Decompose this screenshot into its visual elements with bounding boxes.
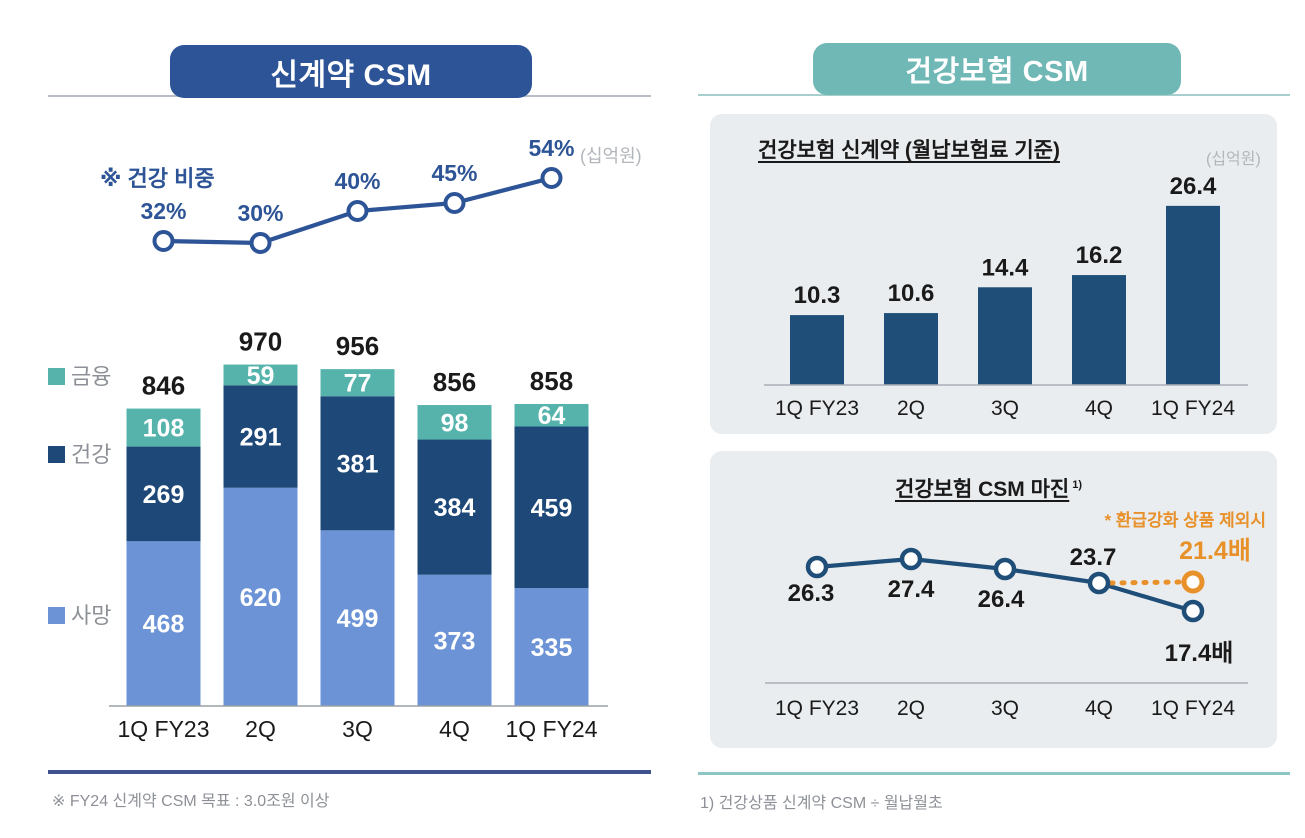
stacked-bar-legend: 금융건강사망 xyxy=(48,364,111,628)
margin-x-tick: 1Q FY23 xyxy=(775,697,859,720)
ratio-line-marker xyxy=(446,194,464,212)
ratio-line-label: 45% xyxy=(431,160,477,186)
left-x-tick: 2Q xyxy=(245,716,276,742)
legend-swatch-death xyxy=(48,607,65,624)
margin-point-label: 17.4배 xyxy=(1165,640,1234,667)
bar-segment-value: 468 xyxy=(143,611,185,639)
health-csm-margin-card: 건강보험 CSM 마진1) * 환급강화 상품 제외시21.4배 26.327.… xyxy=(710,451,1277,748)
bar-segment-value: 373 xyxy=(434,627,476,655)
health-bar-value: 10.6 xyxy=(888,280,935,307)
margin-line-marker xyxy=(1184,602,1202,620)
margin-line-series-group: 26.327.426.423.717.4배 xyxy=(788,544,1234,667)
health-bar xyxy=(1072,275,1126,385)
margin-point-label: 23.7 xyxy=(1070,544,1117,571)
margin-dotted-connector xyxy=(1111,582,1181,583)
right-panel: 건강보험 CSM 건강보험 신계약 (월납보험료 기준) (십억원) 10.31… xyxy=(690,0,1305,838)
left-unit-text: (십억원) xyxy=(580,146,642,166)
margin-x-axis: 1Q FY232Q3Q4Q1Q FY24 xyxy=(765,683,1248,720)
health-bar-x-tick: 3Q xyxy=(991,397,1019,420)
health-bar xyxy=(978,287,1032,385)
health-ratio-caption: ※ 건강 비중 xyxy=(100,166,215,191)
right-footnote: 1) 건강상품 신계약 CSM ÷ 월납월초 xyxy=(700,789,943,813)
margin-x-tick: 1Q FY24 xyxy=(1151,697,1235,720)
health-bar-x-tick: 1Q FY24 xyxy=(1151,397,1235,420)
bar-segment-value: 108 xyxy=(143,415,185,443)
health-bar-value: 10.3 xyxy=(794,282,841,309)
ratio-line-marker xyxy=(543,169,561,187)
bar-segment-value: 291 xyxy=(240,424,282,452)
bar-total-label: 858 xyxy=(530,366,573,396)
health-bar-value: 26.4 xyxy=(1170,173,1217,200)
left-panel: 신계약 CSM (십억원) ※ 건강 비중 32%30%40%45%54% 46… xyxy=(0,0,690,838)
health-bars-group: 10.310.614.416.226.4 xyxy=(790,173,1220,385)
new-contract-csm-chart: (십억원) ※ 건강 비중 32%30%40%45%54% 4682691088… xyxy=(0,0,690,760)
stacked-bars-group: 4682691088466202915997049938177956373384… xyxy=(127,327,589,706)
bar-segment-value: 77 xyxy=(344,370,372,398)
margin-annotation-value: 21.4배 xyxy=(1179,537,1251,565)
left-footnote-divider xyxy=(48,770,651,774)
bar-total-label: 956 xyxy=(336,331,379,361)
bar-segment-value: 620 xyxy=(240,584,282,612)
bar-segment-value: 384 xyxy=(434,494,476,522)
ratio-line-label: 32% xyxy=(140,198,186,224)
bar-segment-value: 64 xyxy=(538,402,566,430)
ratio-line-marker xyxy=(155,232,173,250)
health-new-contract-card: 건강보험 신계약 (월납보험료 기준) (십억원) 10.310.614.416… xyxy=(710,114,1277,434)
right-footnote-divider xyxy=(698,772,1290,775)
health-ratio-line-series: 32%30%40%45%54% xyxy=(140,135,574,252)
legend-label-finance: 금융 xyxy=(71,364,111,389)
margin-line-marker xyxy=(1090,574,1108,592)
left-x-tick: 1Q FY23 xyxy=(117,716,209,742)
margin-point-label: 27.4 xyxy=(888,576,935,603)
margin-x-tick: 3Q xyxy=(991,697,1019,720)
ratio-line-marker xyxy=(349,202,367,220)
health-bar-value: 14.4 xyxy=(982,254,1029,281)
bar-segment-value: 269 xyxy=(143,481,185,509)
health-bar xyxy=(884,313,938,385)
left-unit-label: (십억원) xyxy=(580,146,642,166)
margin-point-label: 26.4 xyxy=(978,586,1025,613)
margin-annotation-group: * 환급강화 상품 제외시21.4배 xyxy=(1104,511,1266,565)
right-header: 건강보험 CSM xyxy=(690,0,1305,70)
health-new-contract-bar-chart: 10.310.614.416.226.4 1Q FY232Q3Q4Q1Q FY2… xyxy=(710,114,1277,434)
margin-line-marker xyxy=(808,558,826,576)
left-x-tick: 4Q xyxy=(439,716,470,742)
health-bar-value: 16.2 xyxy=(1076,242,1123,269)
left-x-axis: 1Q FY232Q3Q4Q1Q FY24 xyxy=(109,706,608,742)
ratio-line-label: 40% xyxy=(334,168,380,194)
bar-segment-value: 459 xyxy=(531,494,573,522)
margin-x-tick: 4Q xyxy=(1085,697,1113,720)
health-bar-x-tick: 4Q xyxy=(1085,397,1113,420)
left-x-tick: 3Q xyxy=(342,716,373,742)
margin-alt-marker xyxy=(1184,573,1202,591)
health-bar-x-tick: 2Q xyxy=(897,397,925,420)
bar-segment-value: 335 xyxy=(531,634,573,662)
bar-segment-value: 98 xyxy=(441,409,469,437)
bar-segment-value: 59 xyxy=(247,362,275,390)
right-header-title: 건강보험 CSM xyxy=(905,48,1088,90)
left-x-tick: 1Q FY24 xyxy=(505,716,597,742)
bar-segment-value: 381 xyxy=(337,450,379,478)
health-csm-margin-line-chart: * 환급강화 상품 제외시21.4배 26.327.426.423.717.4배… xyxy=(710,451,1277,748)
ratio-line-label: 54% xyxy=(528,135,574,161)
legend-label-health: 건강 xyxy=(71,442,111,467)
legend-label-death: 사망 xyxy=(71,603,111,628)
margin-x-tick: 2Q xyxy=(897,697,925,720)
legend-swatch-health xyxy=(48,446,65,463)
legend-swatch-finance xyxy=(48,368,65,385)
bar-total-label: 846 xyxy=(142,371,185,401)
bar-total-label: 856 xyxy=(433,367,476,397)
health-bar-x-tick: 1Q FY23 xyxy=(775,397,859,420)
bar-segment-value: 499 xyxy=(337,605,379,633)
ratio-line-label: 30% xyxy=(237,200,283,226)
bar-total-label: 970 xyxy=(239,327,282,357)
left-footnote: ※ FY24 신계약 CSM 목표 : 3.0조원 이상 xyxy=(52,787,330,811)
health-bar xyxy=(1166,206,1220,385)
health-bar-x-axis: 1Q FY232Q3Q4Q1Q FY24 xyxy=(764,385,1248,420)
health-bar xyxy=(790,315,844,385)
margin-point-label: 26.3 xyxy=(788,580,835,607)
margin-line-marker xyxy=(996,560,1014,578)
ratio-line-marker xyxy=(252,234,270,252)
health-ratio-caption-text: ※ 건강 비중 xyxy=(100,166,215,191)
margin-annotation-note: * 환급강화 상품 제외시 xyxy=(1104,511,1266,530)
margin-line-marker xyxy=(902,550,920,568)
right-header-badge: 건강보험 CSM xyxy=(813,43,1181,95)
